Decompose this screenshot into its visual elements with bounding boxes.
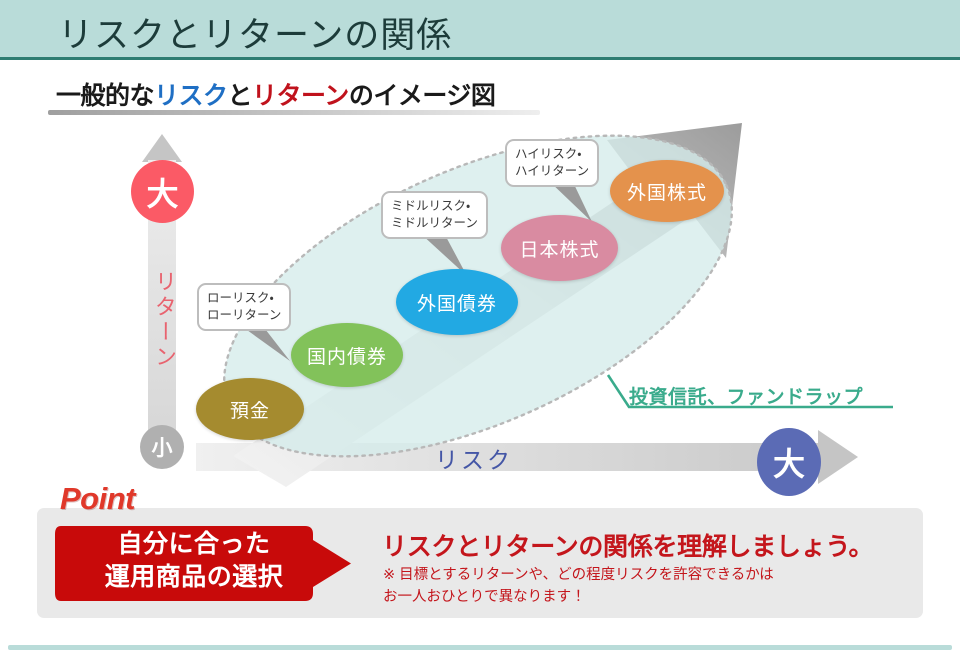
callout-high-line1: ハイリスク・ (515, 146, 589, 163)
point-box-line1: 自分に合った (69, 528, 319, 561)
asset-bubble-deposit[interactable]: 預金 (196, 378, 304, 440)
point-box-text: 自分に合った 運用商品の選択 (69, 528, 319, 594)
subtitle-risk-word: リスク (154, 82, 228, 110)
point-headline: リスクとリターンの関係を理解しましょう。 (382, 527, 873, 563)
footer-bar (8, 645, 952, 650)
callout-low-risk: ローリスク・ ローリターン (197, 283, 291, 331)
asset-bubble-foreign-equity[interactable]: 外国株式 (610, 160, 724, 222)
subtitle-underline (48, 110, 540, 115)
callout-low-line1: ローリスク・ (207, 290, 281, 307)
callout-mid-line2: ミドルリターン (391, 215, 478, 232)
callout-mid-line1: ミドルリスク・ (391, 198, 478, 215)
point-callout-arrow: 自分に合った 運用商品の選択 (55, 518, 355, 609)
subtitle-prefix: 一般的な (56, 82, 154, 110)
asset-bubble-japan-equity[interactable]: 日本株式 (501, 215, 618, 281)
fund-grouping-label: 投資信託、ファンドラップ (629, 382, 863, 409)
subtitle-middle: と (228, 82, 253, 110)
subtitle-suffix: のイメージ図 (349, 82, 496, 110)
subtitle-return-word: リターン (252, 82, 349, 110)
return-low-badge: 小 (140, 425, 184, 469)
risk-axis-label: リスク (435, 441, 513, 475)
point-note: ※ 目標とするリターンや、どの程度リスクを許容できるかは お一人おひとりで異なり… (383, 564, 774, 609)
title-bar: リスクとリターンの関係 (0, 0, 960, 60)
callout-high-risk: ハイリスク・ ハイリターン (505, 139, 599, 187)
point-label: Point (60, 481, 135, 517)
callout-mid-risk: ミドルリスク・ ミドルリターン (381, 191, 488, 239)
callout-high-line2: ハイリターン (515, 163, 589, 180)
callout-low-line2: ローリターン (207, 307, 281, 324)
risk-return-chart: 大 小 大 リターン リスク 預金 国内債券 外国債券 日本株式 外国株式 ロー… (0, 118, 960, 488)
subtitle: 一般的なリスクとリターンのイメージ図 (56, 76, 495, 112)
page-title: リスクとリターンの関係 (58, 7, 452, 58)
asset-bubble-domestic-bond[interactable]: 国内債券 (291, 323, 403, 387)
slide-root: リスクとリターンの関係 一般的なリスクとリターンのイメージ図 (0, 0, 960, 654)
asset-bubble-foreign-bond[interactable]: 外国債券 (396, 269, 518, 335)
risk-high-badge: 大 (757, 428, 821, 496)
return-high-badge: 大 (131, 160, 194, 223)
return-axis-label: リターン (148, 270, 180, 370)
point-box-line2: 運用商品の選択 (69, 561, 319, 594)
